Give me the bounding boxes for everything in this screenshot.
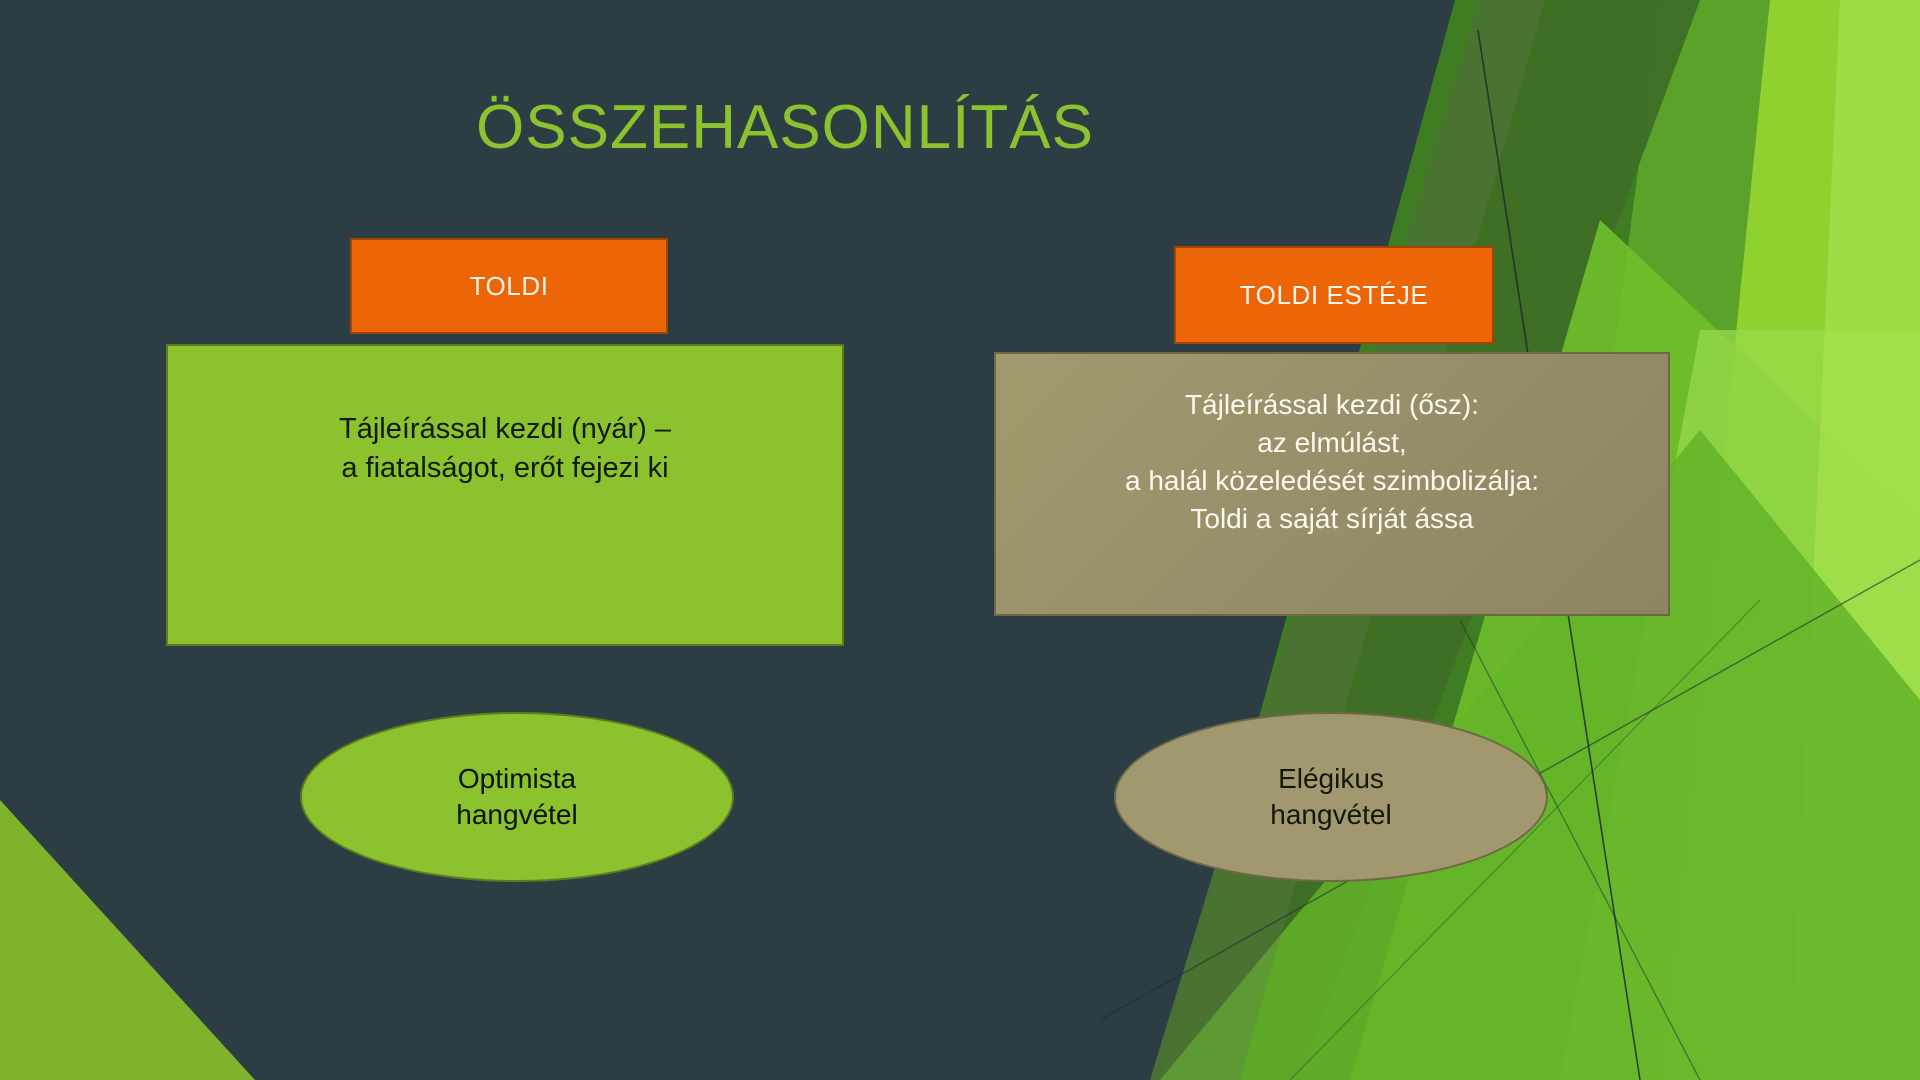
panel-line: az elmúlást, xyxy=(996,424,1668,462)
oval-toldi-tone: Optimista hangvétel xyxy=(300,712,734,882)
panel-line: Toldi a saját sírját ássa xyxy=(996,500,1668,538)
oval-toldi-esteje-tone: Elégikus hangvétel xyxy=(1114,712,1548,882)
oval-line: Elégikus xyxy=(1270,761,1391,797)
column-heading-label: TOLDI ESTÉJE xyxy=(1240,280,1429,311)
column-heading-toldi[interactable]: TOLDI xyxy=(350,238,668,334)
presentation-slide: ÖSSZEHASONLÍTÁS TOLDI Tájleírással kezdi… xyxy=(0,0,1920,1080)
panel-toldi-description: Tájleírással kezdi (nyár) – a fiatalságo… xyxy=(166,344,844,646)
panel-line: Tájleírással kezdi (nyár) – xyxy=(168,410,842,449)
column-heading-toldi-esteje[interactable]: TOLDI ESTÉJE xyxy=(1174,246,1494,344)
panel-line: a fiatalságot, erőt fejezi ki xyxy=(168,449,842,488)
panel-toldi-esteje-description: Tájleírással kezdi (ősz): az elmúlást, a… xyxy=(994,352,1670,616)
oval-line: hangvétel xyxy=(1270,797,1391,833)
oval-line: hangvétel xyxy=(456,797,577,833)
panel-line: Tájleírással kezdi (ősz): xyxy=(996,386,1668,424)
slide-title: ÖSSZEHASONLÍTÁS xyxy=(0,92,1570,163)
oval-line: Optimista xyxy=(456,761,577,797)
panel-line: a halál közeledését szimbolizálja: xyxy=(996,462,1668,500)
column-heading-label: TOLDI xyxy=(469,271,548,302)
